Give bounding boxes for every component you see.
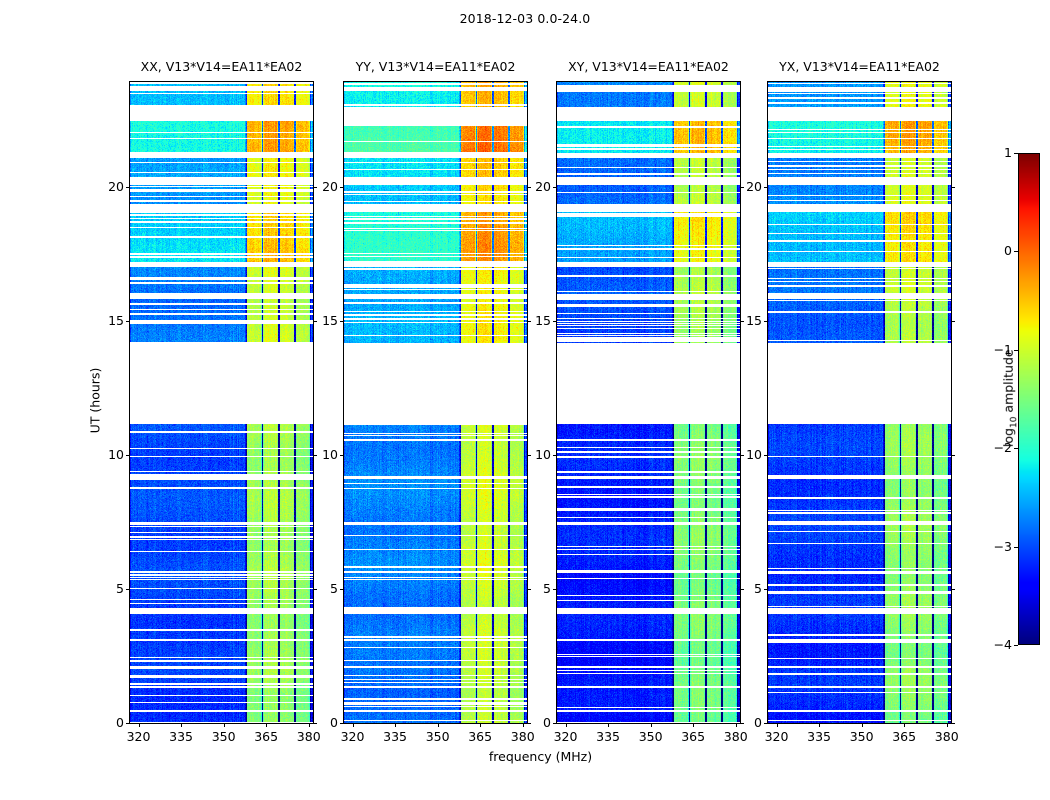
x-axis-tick-label: 335: [588, 729, 628, 744]
x-axis-tick-label: 350: [204, 729, 244, 744]
y-axis-tick-label: 0: [521, 715, 551, 730]
y-axis-tick-label: 5: [521, 581, 551, 596]
y-axis-label: UT (hours): [88, 300, 103, 500]
x-axis-tick-label: 365: [884, 729, 924, 744]
y-axis-tick-mark: [951, 455, 955, 456]
x-axis-tick-mark: [139, 723, 140, 727]
x-axis-tick-mark: [693, 723, 694, 727]
y-axis-tick-mark: [126, 589, 130, 590]
x-axis-tick-label: 320: [119, 729, 159, 744]
panel-title-yy: YY, V13*V14=EA11*EA02: [324, 59, 547, 74]
x-axis-tick-label: 380: [716, 729, 756, 744]
y-axis-tick-mark: [553, 187, 557, 188]
x-axis-tick-label: 350: [842, 729, 882, 744]
x-axis-tick-label: 350: [631, 729, 671, 744]
y-axis-tick-label: 20: [94, 179, 124, 194]
x-axis-tick-label: 335: [161, 729, 201, 744]
y-axis-tick-label: 20: [732, 179, 762, 194]
y-axis-tick-mark: [951, 187, 955, 188]
y-axis-tick-label: 5: [308, 581, 338, 596]
spectrogram-image: [130, 82, 313, 723]
x-axis-tick-mark: [777, 723, 778, 727]
x-axis-tick-label: 320: [546, 729, 586, 744]
y-axis-tick-mark: [126, 321, 130, 322]
x-axis-tick-label: 365: [673, 729, 713, 744]
x-axis-tick-label: 380: [289, 729, 329, 744]
y-axis-tick-mark: [126, 455, 130, 456]
y-axis-tick-label: 15: [308, 313, 338, 328]
panel-title-yx: YX, V13*V14=EA11*EA02: [748, 59, 971, 74]
y-axis-tick-label: 0: [732, 715, 762, 730]
x-axis-tick-mark: [266, 723, 267, 727]
y-axis-tick-mark: [764, 723, 768, 724]
y-axis-tick-mark: [951, 723, 955, 724]
y-axis-tick-label: 20: [521, 179, 551, 194]
y-axis-tick-label: 10: [521, 447, 551, 462]
x-axis-tick-mark: [181, 723, 182, 727]
spectrogram-panel-yx: [767, 81, 952, 724]
x-axis-tick-mark: [353, 723, 354, 727]
colorbar-tick-label: 1: [986, 145, 1012, 160]
y-axis-tick-mark: [553, 723, 557, 724]
y-axis-tick-mark: [340, 589, 344, 590]
y-axis-tick-mark: [126, 723, 130, 724]
y-axis-tick-mark: [951, 589, 955, 590]
panel-title-xx: XX, V13*V14=EA11*EA02: [110, 59, 333, 74]
y-axis-tick-label: 15: [521, 313, 551, 328]
x-axis-tick-mark: [395, 723, 396, 727]
y-axis-tick-mark: [340, 723, 344, 724]
y-axis-tick-mark: [553, 321, 557, 322]
y-axis-tick-label: 5: [94, 581, 124, 596]
y-axis-tick-label: 10: [308, 447, 338, 462]
x-axis-tick-label: 320: [333, 729, 373, 744]
y-axis-tick-mark: [340, 187, 344, 188]
spectrogram-panel-xx: [129, 81, 314, 724]
x-axis-tick-label: 380: [503, 729, 543, 744]
x-axis-tick-mark: [904, 723, 905, 727]
x-axis-tick-mark: [651, 723, 652, 727]
x-axis-tick-label: 335: [375, 729, 415, 744]
y-axis-tick-mark: [553, 589, 557, 590]
panel-title-xy: XY, V13*V14=EA11*EA02: [537, 59, 760, 74]
colorbar: [1018, 153, 1040, 645]
x-axis-tick-mark: [480, 723, 481, 727]
y-axis-tick-label: 0: [94, 715, 124, 730]
y-axis-tick-label: 10: [732, 447, 762, 462]
x-axis-tick-mark: [566, 723, 567, 727]
y-axis-tick-mark: [340, 321, 344, 322]
x-axis-tick-mark: [608, 723, 609, 727]
x-axis-tick-mark: [224, 723, 225, 727]
y-axis-tick-mark: [553, 455, 557, 456]
colorbar-tick-mark: [1014, 153, 1018, 154]
colorbar-tick-mark: [1014, 547, 1018, 548]
y-axis-tick-mark: [951, 321, 955, 322]
y-axis-tick-label: 5: [732, 581, 762, 596]
x-axis-tick-label: 350: [418, 729, 458, 744]
spectrogram-image: [768, 82, 951, 723]
figure-suptitle: 2018-12-03 0.0-24.0: [0, 11, 1050, 26]
x-axis-tick-mark: [438, 723, 439, 727]
x-axis-tick-mark: [862, 723, 863, 727]
y-axis-tick-label: 20: [308, 179, 338, 194]
x-axis-tick-label: 365: [246, 729, 286, 744]
y-axis-tick-mark: [764, 321, 768, 322]
colorbar-label: log10 amplitude: [1001, 328, 1020, 468]
colorbar-tick-mark: [1014, 645, 1018, 646]
colorbar-tick-mark: [1014, 251, 1018, 252]
x-axis-tick-label: 365: [460, 729, 500, 744]
y-axis-tick-label: 0: [308, 715, 338, 730]
y-axis-tick-mark: [764, 455, 768, 456]
y-axis-tick-mark: [340, 455, 344, 456]
x-axis-tick-label: 335: [799, 729, 839, 744]
spectrogram-panel-yy: [343, 81, 528, 724]
x-axis-label: frequency (MHz): [130, 749, 951, 764]
colorbar-tick-label: −4: [986, 637, 1012, 652]
spectrogram-image: [557, 82, 740, 723]
colorbar-tick-label: −3: [986, 539, 1012, 554]
spectrogram-image: [344, 82, 527, 723]
x-axis-tick-mark: [819, 723, 820, 727]
x-axis-tick-label: 380: [927, 729, 967, 744]
y-axis-tick-mark: [764, 187, 768, 188]
spectrogram-panel-xy: [556, 81, 741, 724]
colorbar-tick-label: 0: [986, 243, 1012, 258]
y-axis-tick-label: 15: [732, 313, 762, 328]
y-axis-tick-mark: [764, 589, 768, 590]
x-axis-tick-label: 320: [757, 729, 797, 744]
x-axis-tick-mark: [947, 723, 948, 727]
y-axis-tick-mark: [126, 187, 130, 188]
